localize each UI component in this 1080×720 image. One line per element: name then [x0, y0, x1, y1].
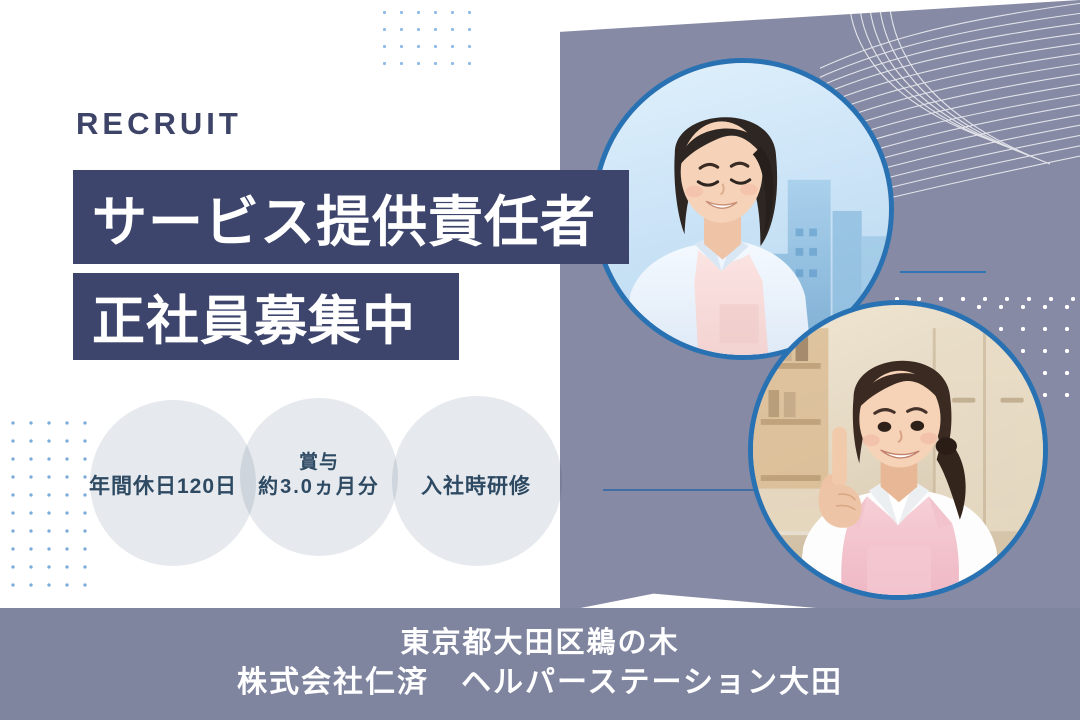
- headline-line-1: サービス提供責任者: [92, 177, 596, 257]
- footer-address: 東京都大田区鵜の木: [400, 624, 679, 663]
- photo-caregiver-indoor-image: [753, 305, 1043, 595]
- benefit-label-bonus-top: 賞与: [238, 451, 400, 475]
- benefit-label-holidays: 年間休日120日: [73, 474, 253, 500]
- dot-grid-left-icon: [4, 414, 100, 592]
- benefit-label-training: 入社時研修: [398, 474, 554, 500]
- benefit-label-bonus: 賞与 約3.0ヵ月分: [238, 451, 400, 500]
- benefit-label-bonus-bottom: 約3.0ヵ月分: [238, 475, 400, 500]
- recruitment-banner: RECRUIT サービス提供責任者 正社員募集中 年間休日120日 賞与 約3.…: [0, 0, 1080, 720]
- photo-caregiver-indoor: [748, 300, 1048, 600]
- footer-company: 株式会社仁済 ヘルパーステーション大田: [237, 663, 843, 704]
- footer-bar: 東京都大田区鵜の木 株式会社仁済 ヘルパーステーション大田: [0, 608, 1080, 720]
- headline-box-secondary: 正社員募集中: [73, 273, 459, 360]
- headline-box-primary: サービス提供責任者: [73, 170, 629, 264]
- dot-grid-top-icon: [376, 4, 472, 68]
- headline-line-2: 正社員募集中: [92, 279, 416, 355]
- eyebrow-recruit-label: RECRUIT: [76, 108, 242, 139]
- accent-rule-right: [900, 271, 986, 273]
